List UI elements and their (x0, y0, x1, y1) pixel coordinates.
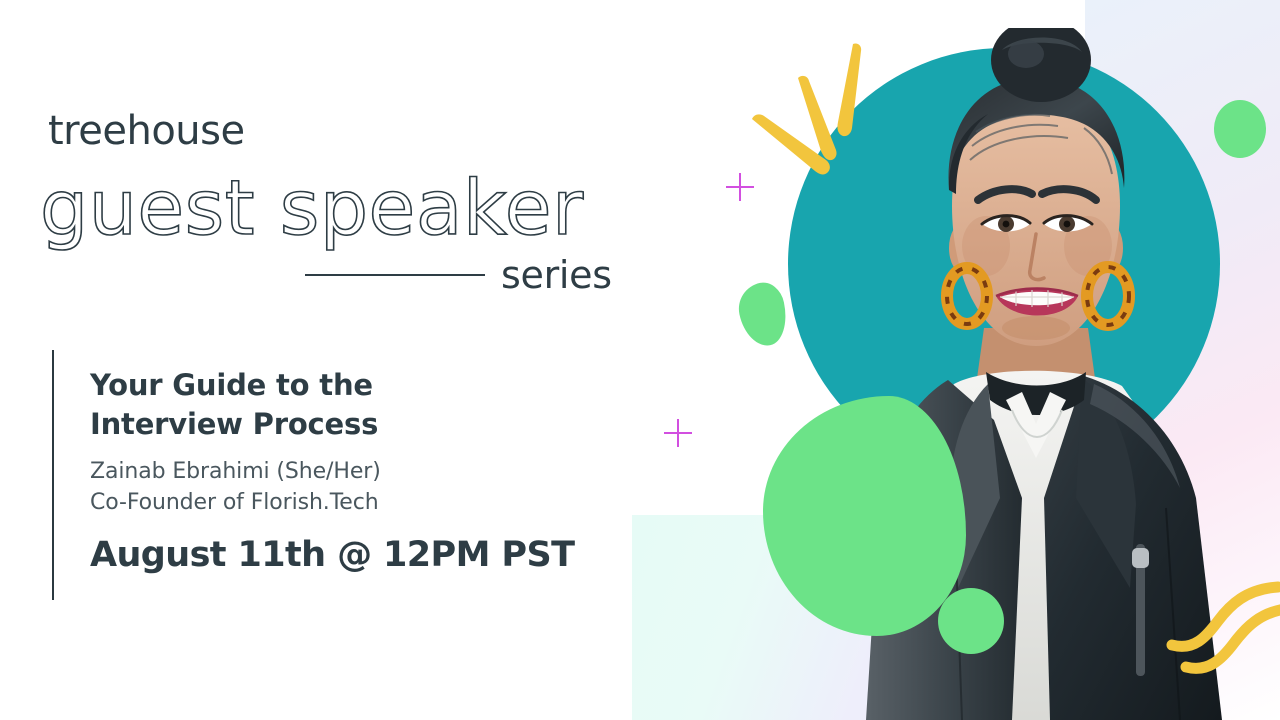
event-details: Your Guide to the Interview Process Zain… (90, 366, 610, 575)
plus-vertical-bar (677, 419, 679, 447)
series-word: series (501, 253, 612, 297)
promo-slide: treehouse guest speaker series Your Guid… (0, 0, 1280, 720)
series-row: series (305, 252, 625, 298)
headline-outline-text: guest speaker (40, 163, 584, 252)
event-datetime: August 11th @ 12PM PST (90, 535, 610, 575)
vertical-accent-bar (52, 350, 54, 600)
yellow-squiggle-icon (1160, 575, 1280, 685)
green-dot-bottom (938, 588, 1004, 654)
green-blob-small (734, 279, 792, 350)
brand-wordmark: treehouse (48, 108, 245, 154)
speaker-name: Zainab Ebrahimi (She/Her) (90, 456, 610, 487)
magenta-plus-icon-middle (664, 419, 692, 447)
speaker-role: Co-Founder of Florish.Tech (90, 487, 610, 518)
series-divider-rule (305, 274, 485, 276)
talk-title: Your Guide to the Interview Process (90, 366, 610, 443)
yellow-sparkle-icon (740, 30, 900, 190)
